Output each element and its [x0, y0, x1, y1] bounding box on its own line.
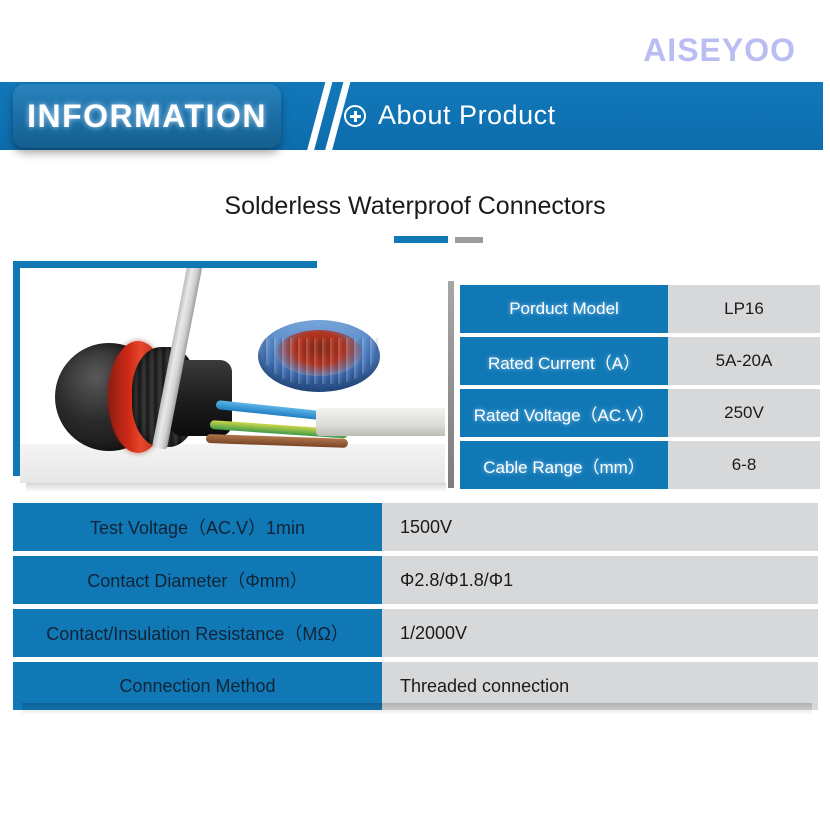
- information-tag-label: INFORMATION: [27, 98, 267, 135]
- detail-label: Contact Diameter（Φmm）: [13, 556, 382, 604]
- table-row: Contact/Insulation Resistance（MΩ） 1/2000…: [13, 609, 818, 657]
- title-underline-secondary: [455, 237, 483, 243]
- detail-value: 1/2000V: [382, 609, 818, 657]
- detail-label: Test Voltage（AC.V）1min: [13, 503, 382, 551]
- detail-value: Φ2.8/Φ1.8/Φ1: [382, 556, 818, 604]
- table-row: Test Voltage（AC.V）1min 1500V: [13, 503, 818, 551]
- detail-value: 1500V: [382, 503, 818, 551]
- detail-label: Contact/Insulation Resistance（MΩ）: [13, 609, 382, 657]
- photo-frame-left-bar: [13, 261, 20, 476]
- table-row: Contact Diameter（Φmm） Φ2.8/Φ1.8/Φ1: [13, 556, 818, 604]
- table-row: Rated Voltage（AC.V） 250V: [460, 389, 820, 437]
- title-underline-primary: [394, 236, 448, 243]
- product-photo: [20, 268, 445, 483]
- brand-logo: AISEYOO: [596, 28, 796, 72]
- spec-label: Rated Current（A）: [460, 337, 668, 385]
- spec-table: Porduct Model LP16 Rated Current（A） 5A-2…: [460, 285, 820, 493]
- spec-table-accent-bar: [448, 281, 454, 488]
- spec-label: Rated Voltage（AC.V）: [460, 389, 668, 437]
- product-information-page: AISEYOO About Product INFORMATION Solder…: [0, 0, 830, 813]
- product-title: Solderless Waterproof Connectors: [0, 192, 830, 221]
- section-label: About Product: [378, 100, 556, 131]
- information-tag: INFORMATION: [13, 84, 281, 148]
- spec-value: 6-8: [668, 441, 820, 489]
- plus-circle-icon: [344, 105, 366, 127]
- cable-sheath: [316, 408, 445, 436]
- spec-value: 5A-20A: [668, 337, 820, 385]
- photo-frame-top-bar: [13, 261, 317, 268]
- photo-surface: [20, 444, 445, 483]
- spec-label: Porduct Model: [460, 285, 668, 333]
- table-row: Rated Current（A） 5A-20A: [460, 337, 820, 385]
- table-row: Porduct Model LP16: [460, 285, 820, 333]
- detail-table-shadow: [22, 703, 812, 715]
- spec-label: Cable Range（mm）: [460, 441, 668, 489]
- spec-value: 250V: [668, 389, 820, 437]
- spec-value: LP16: [668, 285, 820, 333]
- detail-table: Test Voltage（AC.V）1min 1500V Contact Dia…: [13, 503, 818, 715]
- table-row: Cable Range（mm） 6-8: [460, 441, 820, 489]
- photo-drop-shadow: [26, 483, 446, 492]
